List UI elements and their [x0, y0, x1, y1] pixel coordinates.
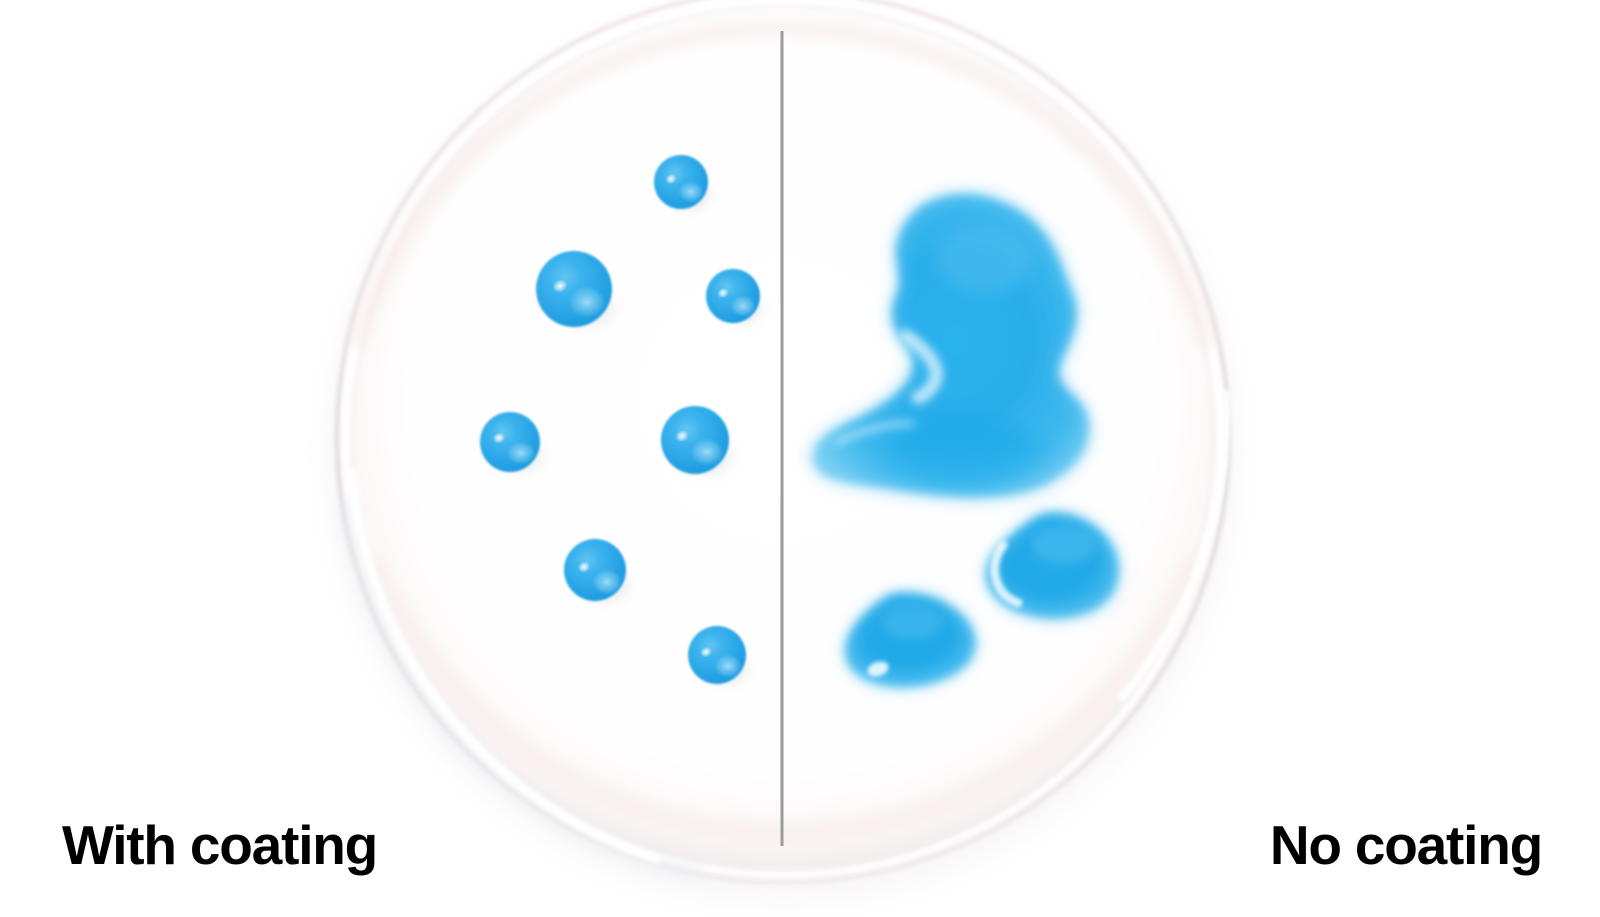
droplet-body [536, 251, 612, 327]
caption-no-coating: No coating [1270, 818, 1542, 873]
droplet-sheen [690, 438, 724, 466]
puddle-interior-depth [884, 418, 1040, 478]
droplet-sheen [506, 441, 536, 465]
droplet-sheen [568, 286, 606, 318]
caption-with-coating: With coating [62, 818, 377, 873]
droplet-sheen [730, 295, 756, 317]
droplet-sheen [678, 181, 704, 203]
puddle-interior-sheen [882, 605, 942, 639]
droplet-body [480, 412, 540, 472]
droplet-body [654, 155, 708, 209]
comparison-photo-stage: With coating No coating [0, 0, 1600, 917]
petri-dish-photo [0, 0, 1600, 917]
puddle-interior-sheen [937, 224, 1033, 292]
puddle-interior-sheen [1032, 526, 1096, 564]
droplet-body [661, 406, 729, 474]
droplet-body [688, 626, 746, 684]
droplet-body [706, 269, 760, 323]
droplet-sheen [592, 569, 622, 595]
droplet-sheen [714, 654, 742, 678]
